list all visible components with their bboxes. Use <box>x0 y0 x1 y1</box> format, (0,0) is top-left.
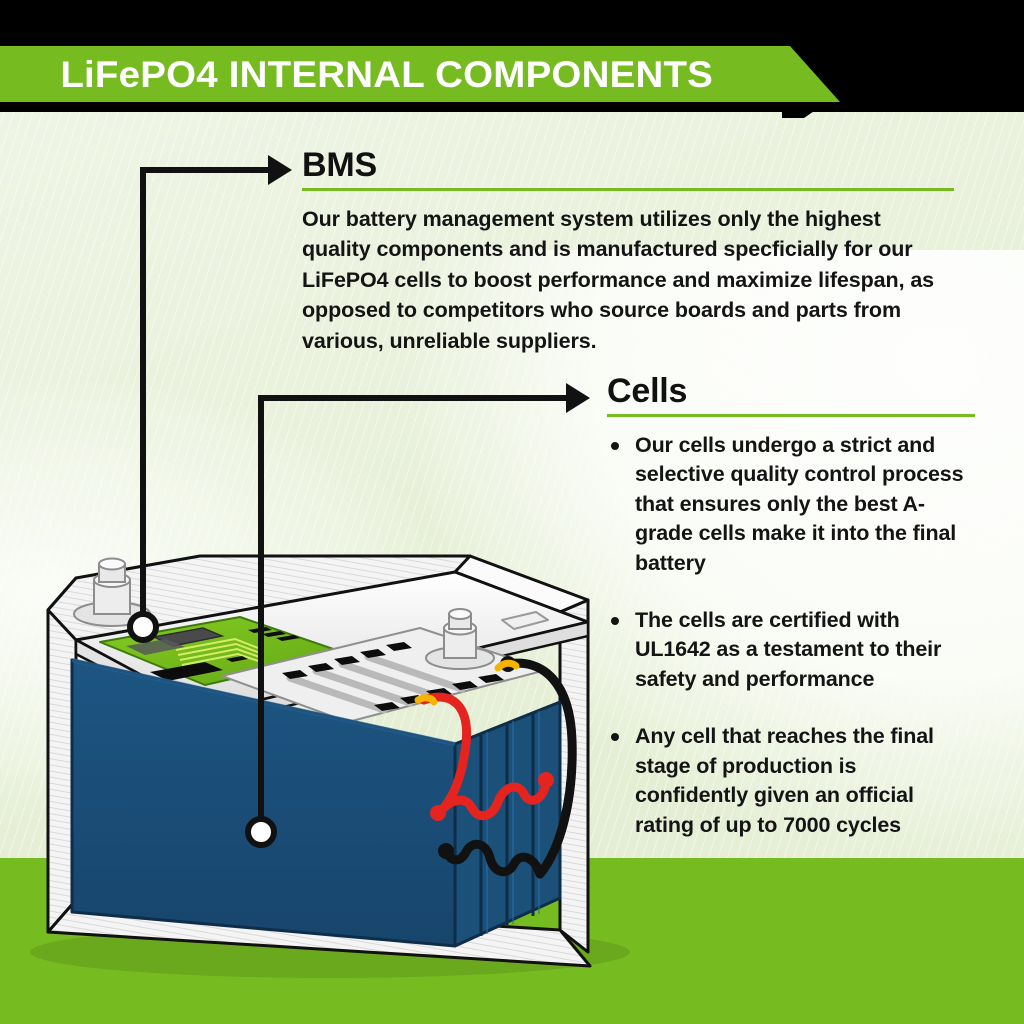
bms-heading: BMS <box>302 148 954 184</box>
cells-heading: Cells <box>607 374 975 410</box>
bullet-dot-icon <box>611 442 619 450</box>
list-item: Any cell that reaches the final stage of… <box>607 722 975 840</box>
list-item: The cells are certified with UL1642 as a… <box>607 606 975 694</box>
list-item-label: Any cell that reaches the final stage of… <box>635 724 934 836</box>
infographic-canvas: LiFePO4 INTERNAL COMPONENTS <box>0 0 1024 1024</box>
cells-bullet-list: Our cells undergo a strict and selective… <box>607 431 975 840</box>
list-item-label: Our cells undergo a strict and selective… <box>635 433 963 575</box>
list-item: Our cells undergo a strict and selective… <box>607 431 975 578</box>
bullet-dot-icon <box>611 733 619 741</box>
bms-heading-rule <box>302 188 954 191</box>
section-cells: Cells Our cells undergo a strict and sel… <box>607 374 975 840</box>
cells-heading-rule <box>607 414 975 417</box>
page-title: LiFePO4 INTERNAL COMPONENTS <box>0 56 713 93</box>
header-green-banner: LiFePO4 INTERNAL COMPONENTS <box>0 46 840 102</box>
section-bms: BMS Our battery management system utiliz… <box>302 148 954 356</box>
list-item-label: The cells are certified with UL1642 as a… <box>635 608 941 691</box>
bms-body-text: Our battery management system utilizes o… <box>302 204 954 357</box>
floor-green-band <box>0 858 1024 1024</box>
background-swoosh-left <box>0 380 440 810</box>
bullet-dot-icon <box>611 617 619 625</box>
